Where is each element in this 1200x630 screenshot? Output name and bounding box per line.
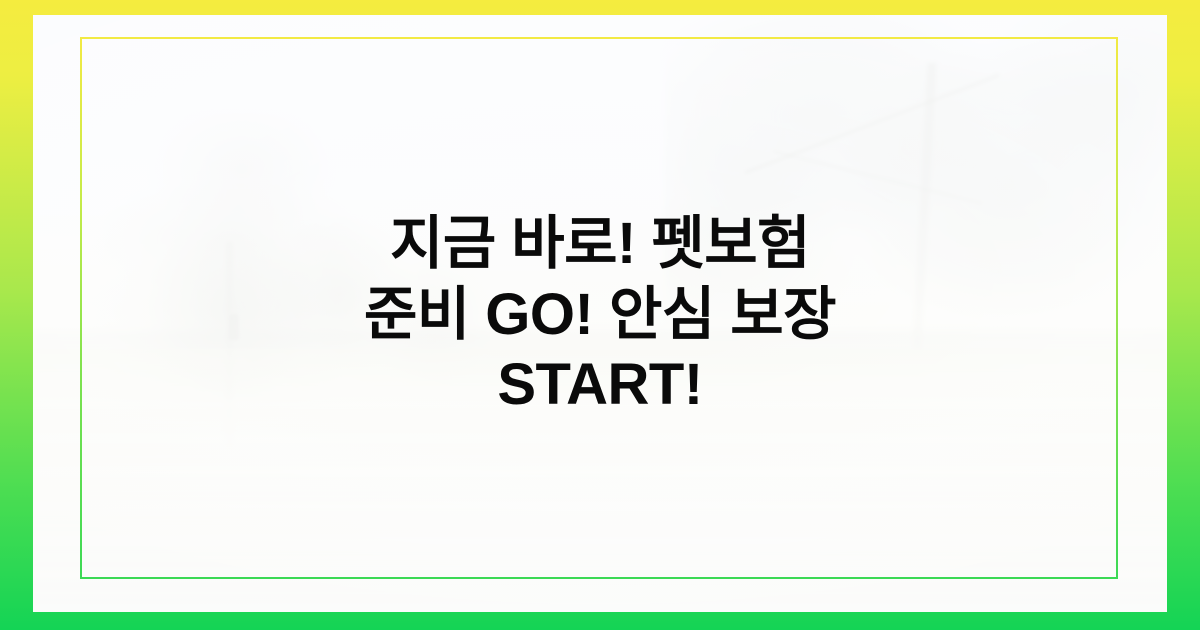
promo-banner: 지금 바로! 펫보험 준비 GO! 안심 보장 START! — [0, 0, 1200, 630]
headline-line-1: 지금 바로! 펫보험 — [390, 209, 810, 280]
headline-line-2: 준비 GO! 안심 보장 — [364, 280, 836, 351]
headline-line-3: START! — [497, 350, 702, 421]
headline-block: 지금 바로! 펫보험 준비 GO! 안심 보장 START! — [0, 0, 1200, 630]
